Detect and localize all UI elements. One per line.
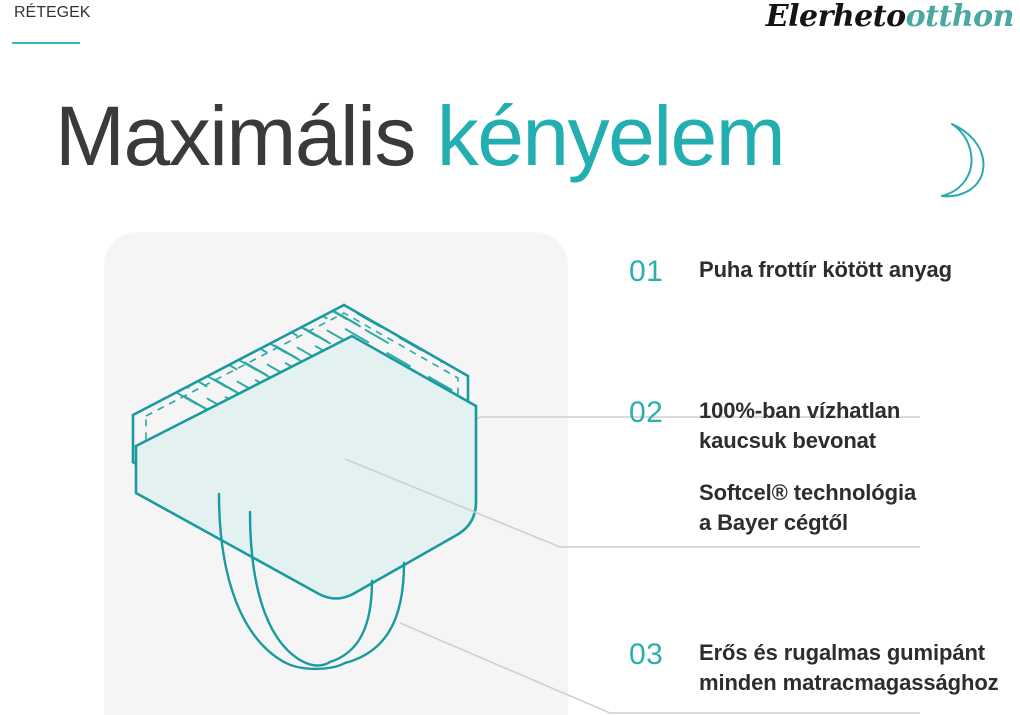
eyebrow-underline-rule	[12, 42, 80, 44]
callout-body-01: Puha frottír kötött anyag	[699, 255, 952, 285]
softcel-brand: Softcel	[699, 480, 772, 505]
callout-text-line: minden matracmagassághoz	[699, 668, 999, 698]
brand-logo[interactable]: Elerhetootthon	[766, 2, 1014, 32]
brand-logo-primary: Elerheto	[766, 0, 906, 34]
callout-number-03: 03	[629, 638, 681, 673]
callout-text-line: Erős és rugalmas gumipánt	[699, 638, 999, 668]
callout-number-02: 02	[629, 396, 681, 431]
callout-item-01: 01 Puha frottír kötött anyag	[629, 255, 952, 290]
callout-text-line: 100%-ban vízhatlan	[699, 396, 916, 426]
callout-body-02: 100%-ban vízhatlan kaucsuk bevonat Softc…	[699, 396, 916, 538]
eyebrow-label: RÉTEGEK	[14, 4, 90, 22]
callout-text-line: Softcel® technológia	[699, 478, 916, 508]
callout-item-02: 02 100%-ban vízhatlan kaucsuk bevonat So…	[629, 396, 916, 538]
eyebrow-block: RÉTEGEK	[14, 4, 90, 44]
callout-number-01: 01	[629, 255, 681, 290]
callout-body-03: Erős és rugalmas gumipánt minden matracm…	[699, 638, 999, 699]
brand-logo-secondary: otthon	[906, 0, 1014, 34]
callout-item-03: 03 Erős és rugalmas gumipánt minden matr…	[629, 638, 999, 699]
callout-text-line: kaucsuk bevonat	[699, 426, 916, 456]
callout-text-line: Puha frottír kötött anyag	[699, 255, 952, 285]
callout-text-line: a Bayer cégtől	[699, 508, 916, 538]
layer-waterproof-coating	[136, 336, 476, 599]
softcel-suffix: ® technológia	[772, 480, 916, 505]
